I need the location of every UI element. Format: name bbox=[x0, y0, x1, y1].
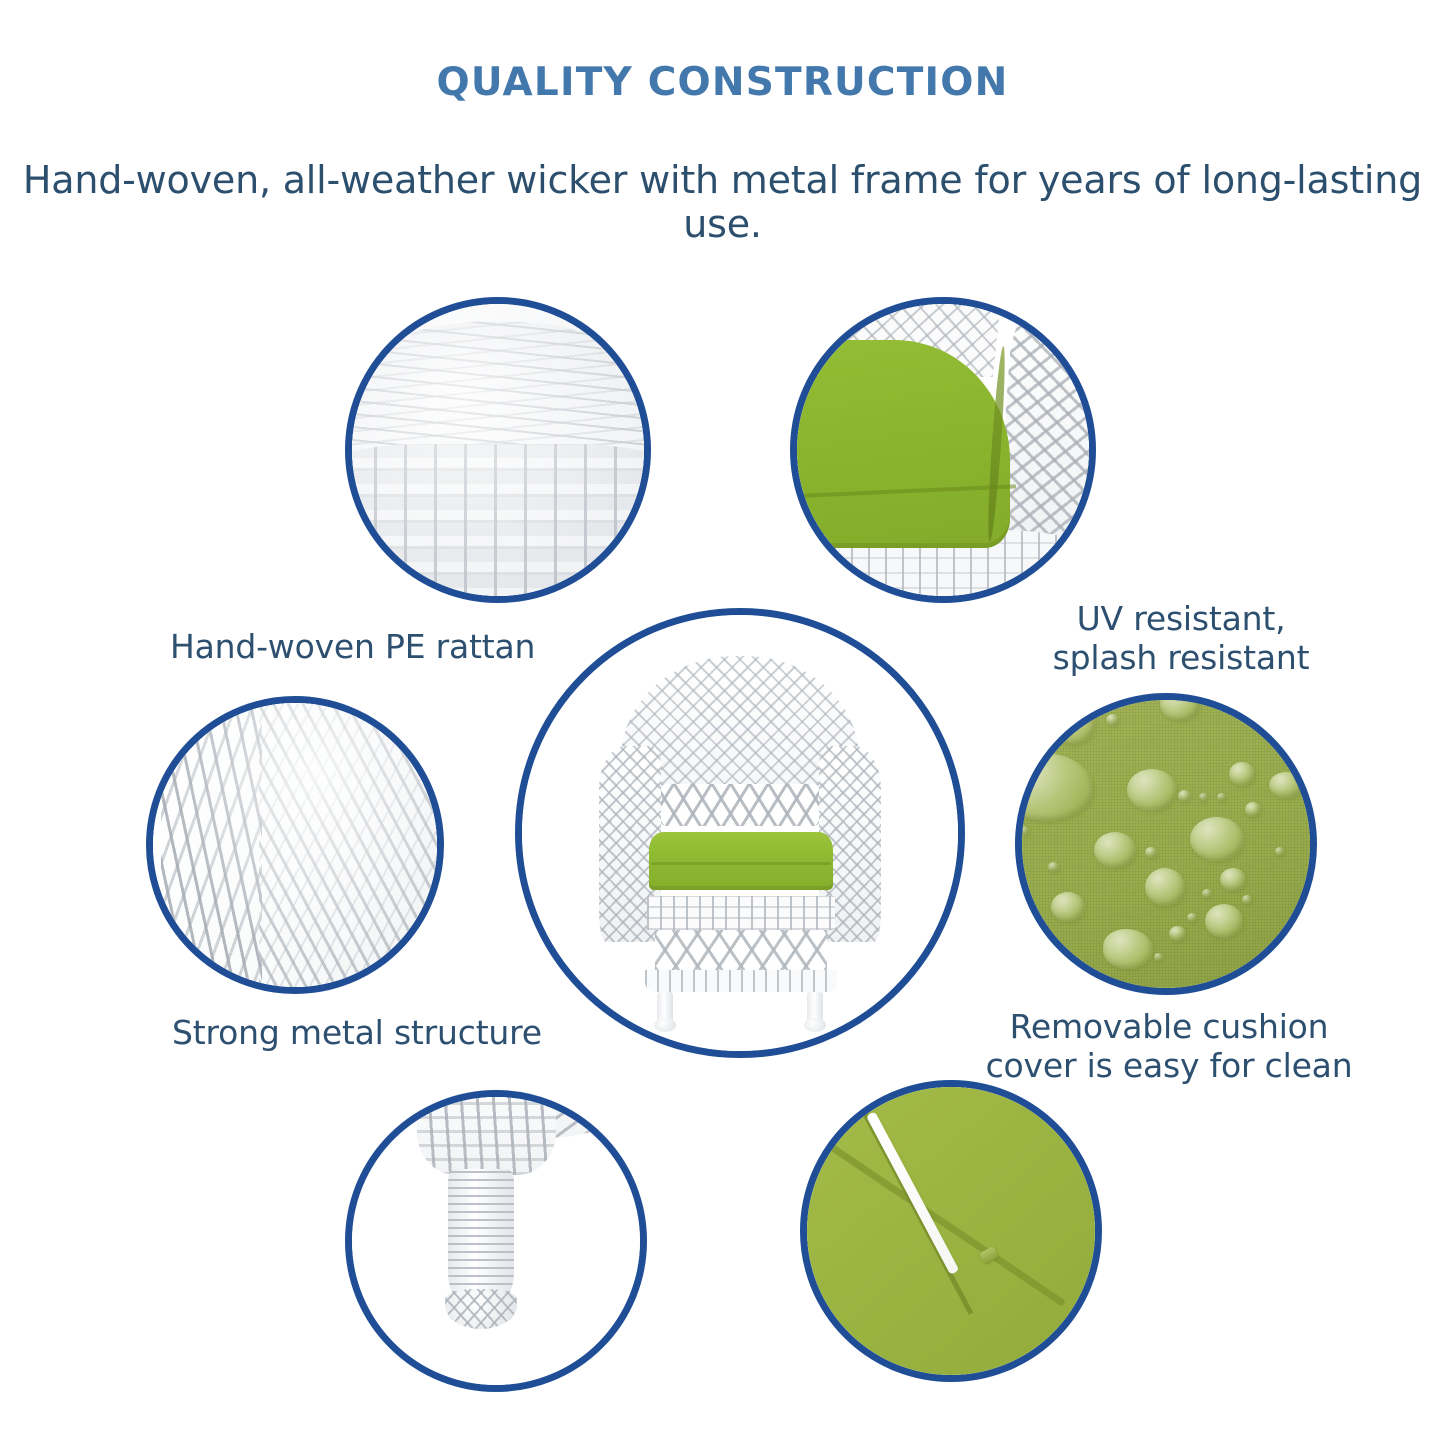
chair-seat-cushion-seam bbox=[651, 862, 831, 865]
water-droplet bbox=[1103, 929, 1153, 969]
water-droplet bbox=[1051, 705, 1095, 745]
photo-cushion-zipper bbox=[800, 1080, 1102, 1382]
chair-bottom-rail bbox=[645, 970, 837, 992]
water-droplet bbox=[1245, 802, 1261, 817]
water-droplet bbox=[1106, 714, 1119, 726]
water-droplet bbox=[1199, 793, 1208, 801]
photo-green-cushion-on-wicker bbox=[790, 297, 1096, 603]
corner-highlight bbox=[146, 696, 444, 994]
water-droplet bbox=[1217, 793, 1226, 801]
chair-skirt-lattice bbox=[655, 930, 827, 970]
water-droplet bbox=[1169, 926, 1186, 941]
label-hand-woven-pe-rattan: Hand-woven PE rattan bbox=[170, 628, 590, 667]
leg-wrapped-shaft bbox=[448, 1169, 514, 1302]
callout-circle-strong-metal-structure bbox=[146, 696, 444, 994]
chair-seat-cushion bbox=[649, 832, 833, 890]
callout-circle-uv-splash-resistant bbox=[790, 297, 1096, 603]
photo-wicker-corner bbox=[146, 696, 444, 994]
water-droplet bbox=[1269, 772, 1303, 798]
page-subtitle: Hand-woven, all-weather wicker with meta… bbox=[0, 158, 1445, 246]
callout-circle-removable-cushion-cover bbox=[1015, 693, 1317, 995]
label-strong-metal-structure: Strong metal structure bbox=[172, 1014, 592, 1053]
wicker-armchair bbox=[599, 656, 881, 1028]
water-droplet bbox=[1127, 769, 1177, 811]
photo-wicker-weave bbox=[345, 297, 651, 603]
water-droplet bbox=[1145, 868, 1185, 906]
water-droplet bbox=[1178, 790, 1191, 802]
photo-water-droplets-on-fabric bbox=[1015, 693, 1317, 995]
callout-circle-cushion-zipper-detail bbox=[800, 1080, 1102, 1382]
label-removable-cushion-cover: Removable cushion cover is easy for clea… bbox=[978, 1008, 1360, 1086]
page-title: QUALITY CONSTRUCTION bbox=[0, 60, 1445, 105]
chair-foot-left bbox=[654, 1018, 676, 1032]
callout-circle-hand-woven-pe-rattan bbox=[345, 297, 651, 603]
wicker-shading bbox=[345, 297, 651, 603]
water-droplet bbox=[1275, 847, 1284, 856]
water-droplet bbox=[1242, 895, 1252, 904]
quality-construction-infographic: QUALITY CONSTRUCTION Hand-woven, all-wea… bbox=[0, 0, 1445, 1445]
water-droplet bbox=[1190, 817, 1244, 861]
chair-back-lattice bbox=[661, 784, 819, 826]
label-uv-splash-resistant: UV resistant, splash resistant bbox=[1022, 600, 1340, 678]
photo-wicker-leg bbox=[345, 1090, 647, 1392]
chair-foot-right bbox=[804, 1018, 826, 1032]
photo-wicker-armchair bbox=[515, 608, 965, 1058]
chair-seat-apron bbox=[647, 896, 835, 930]
water-droplet bbox=[1154, 953, 1163, 961]
center-circle-product-hero bbox=[515, 608, 965, 1058]
water-droplet bbox=[1145, 847, 1157, 858]
leg-upper-weave bbox=[417, 1090, 556, 1175]
callout-circle-wicker-leg-detail bbox=[345, 1090, 647, 1392]
water-droplet bbox=[1094, 832, 1136, 868]
water-droplet bbox=[1018, 826, 1029, 836]
